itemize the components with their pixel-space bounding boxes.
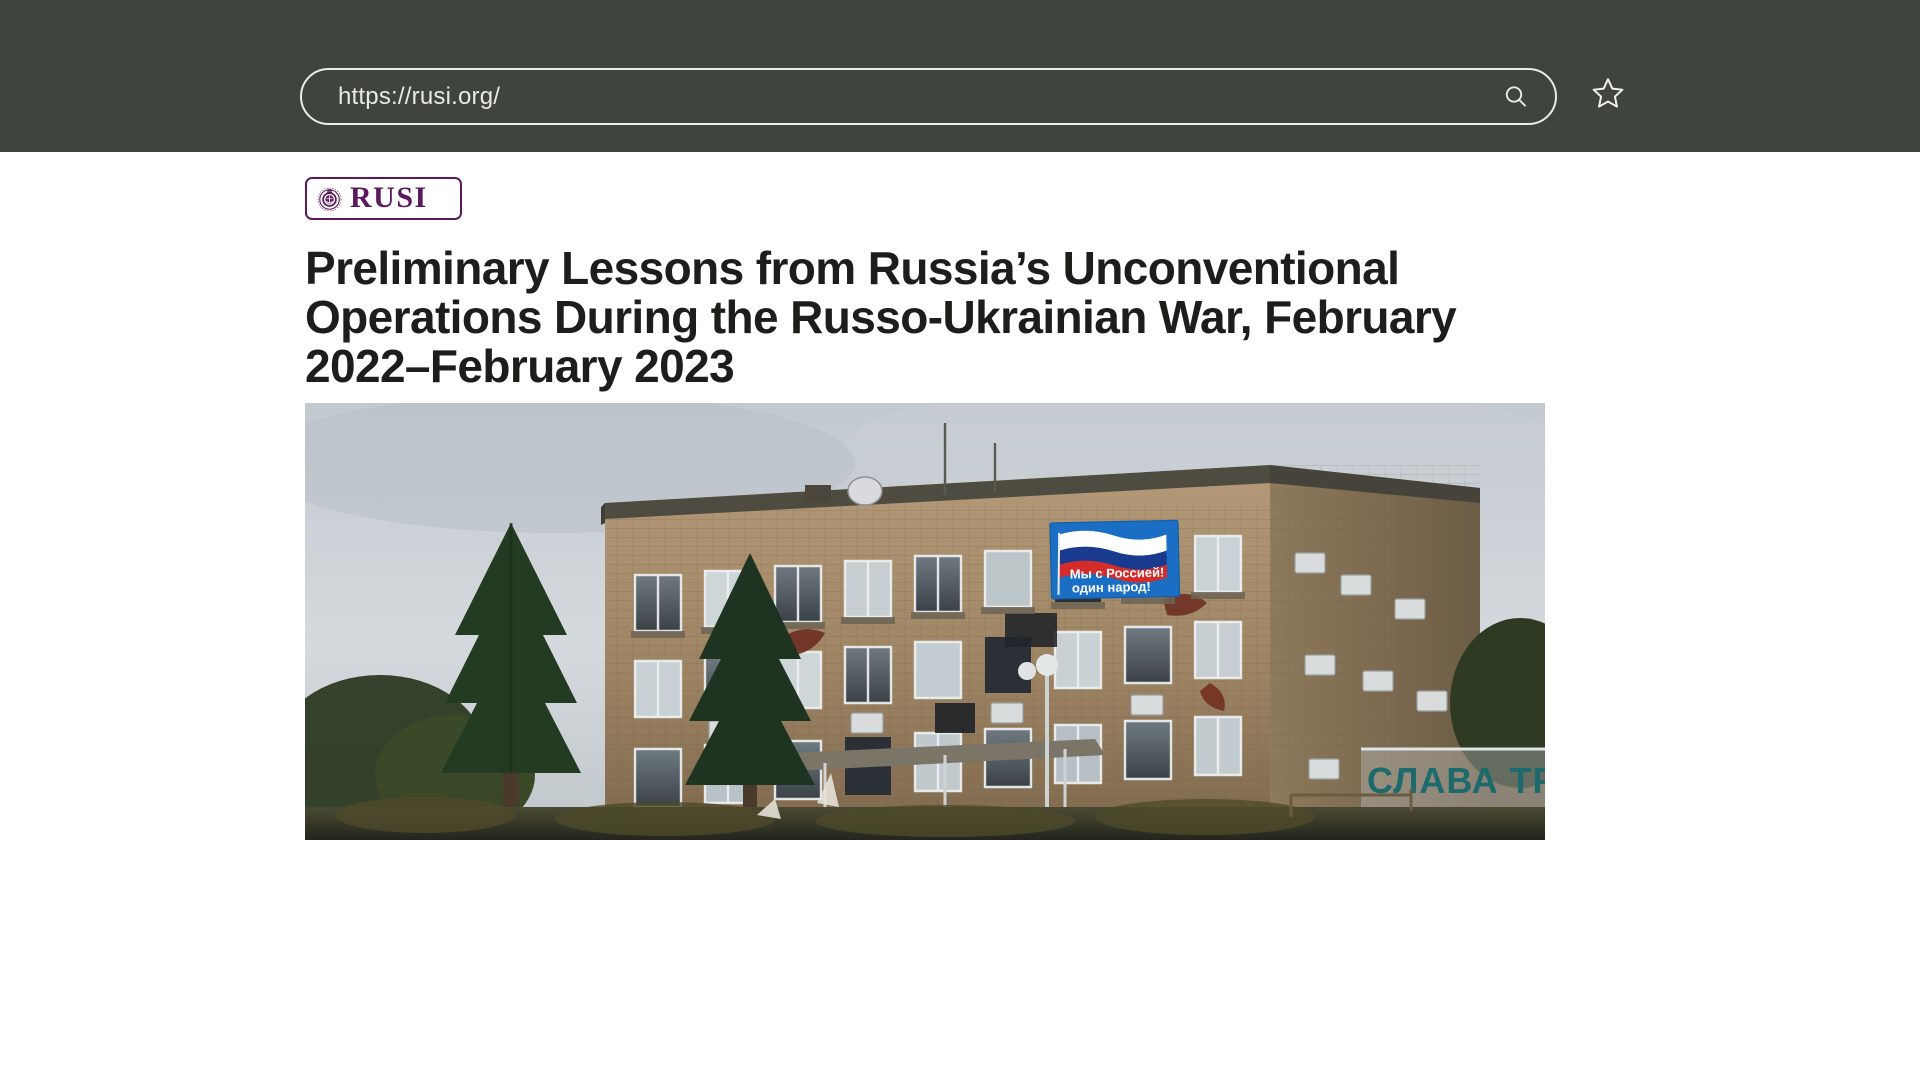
bookmark-star-icon[interactable]	[1586, 72, 1630, 116]
rusi-wordmark: RUSI	[350, 183, 428, 215]
search-icon[interactable]	[1499, 80, 1533, 114]
article: RUSI Preliminary Lessons from Russia’s U…	[305, 177, 1545, 840]
rusi-crest-icon	[314, 183, 345, 214]
browser-chrome: https://rusi.org/	[0, 0, 1920, 152]
svg-text:один народ!: один народ!	[1072, 579, 1151, 596]
rusi-logo[interactable]: RUSI	[305, 177, 462, 220]
page-title: Preliminary Lessons from Russia’s Unconv…	[305, 244, 1545, 391]
hero-photo-illustration: Мы с Россией! один народ! СЛАВА ТРУДУ	[305, 403, 1545, 840]
address-bar[interactable]: https://rusi.org/	[300, 68, 1557, 125]
page-content: RUSI Preliminary Lessons from Russia’s U…	[0, 152, 1920, 1080]
url-input[interactable]: https://rusi.org/	[338, 83, 1499, 111]
hero-image: Мы с Россией! один народ! СЛАВА ТРУДУ	[305, 403, 1545, 840]
